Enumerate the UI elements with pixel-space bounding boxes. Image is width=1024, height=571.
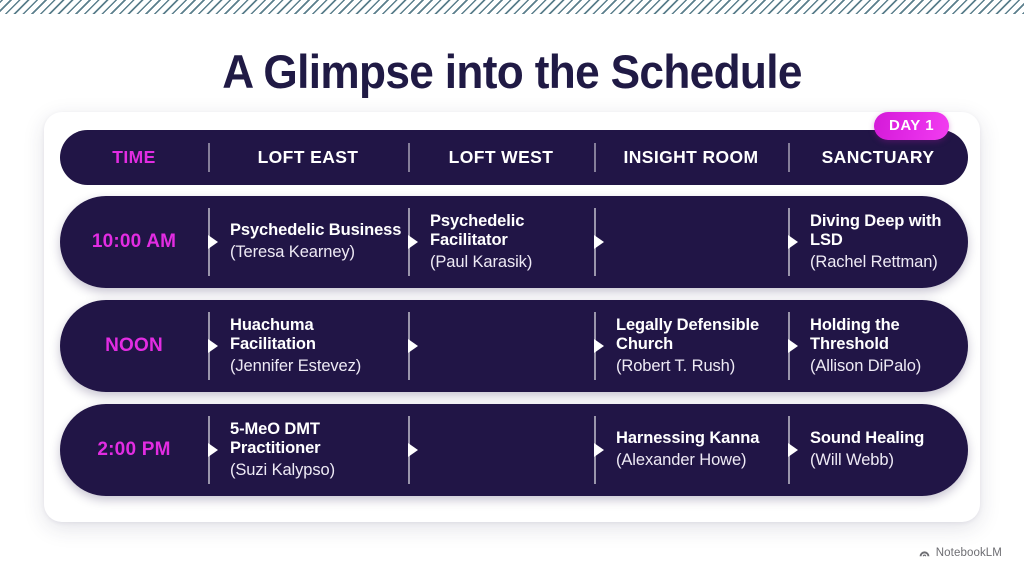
column-header-loft-east: LOFT EAST <box>208 130 408 185</box>
arrow-right-icon <box>788 235 798 249</box>
column-header-time: TIME <box>60 130 208 185</box>
session-cell-loft-east[interactable]: Huachuma Facilitation (Jennifer Estevez) <box>208 300 408 392</box>
schedule-header-row: TIME LOFT EAST LOFT WEST INSIGHT ROOM SA… <box>60 130 968 185</box>
arrow-right-icon <box>208 339 218 353</box>
column-header-insight-room: INSIGHT ROOM <box>594 130 788 185</box>
session-presenter: (Alexander Howe) <box>616 450 782 471</box>
session-title: Sound Healing <box>810 429 962 449</box>
session-cell-sanctuary[interactable]: Diving Deep with LSD (Rachel Rettman) <box>788 196 968 288</box>
row-time-cell: NOON <box>60 300 208 392</box>
session-presenter: (Jennifer Estevez) <box>230 356 402 377</box>
time-label: NOON <box>105 335 163 357</box>
column-header-loft-west: LOFT WEST <box>408 130 594 185</box>
session-presenter: (Teresa Kearney) <box>230 242 402 263</box>
session-title: Psychedelic Facilitator <box>430 212 588 251</box>
session-cell-insight-room[interactable]: Legally Defensible Church (Robert T. Rus… <box>594 300 788 392</box>
row-time-cell: 2:00 PM <box>60 404 208 496</box>
watermark-label: NotebookLM <box>936 547 1002 559</box>
time-label: 2:00 PM <box>97 439 170 461</box>
session-presenter: (Allison DiPalo) <box>810 356 962 377</box>
session-cell-loft-west[interactable]: Psychedelic Facilitator (Paul Karasik) <box>408 196 594 288</box>
session-cell-loft-west[interactable] <box>408 404 594 496</box>
schedule-table: TIME LOFT EAST LOFT WEST INSIGHT ROOM SA… <box>60 130 968 496</box>
time-label: 10:00 AM <box>92 231 176 253</box>
session-presenter: (Paul Karasik) <box>430 252 588 273</box>
session-cell-sanctuary[interactable]: Holding the Threshold (Allison DiPalo) <box>788 300 968 392</box>
arrow-right-icon <box>594 235 604 249</box>
page-title: A Glimpse into the Schedule <box>31 44 994 99</box>
session-title: Harnessing Kanna <box>616 429 782 449</box>
arrow-right-icon <box>408 235 418 249</box>
arrow-right-icon <box>594 339 604 353</box>
session-title: Diving Deep with LSD <box>810 212 962 251</box>
session-cell-loft-west[interactable] <box>408 300 594 392</box>
arrow-right-icon <box>208 443 218 457</box>
day-badge: DAY 1 <box>874 112 949 140</box>
session-cell-loft-east[interactable]: 5-MeO DMT Practitioner (Suzi Kalypso) <box>208 404 408 496</box>
arrow-right-icon <box>408 443 418 457</box>
session-cell-insight-room[interactable] <box>594 196 788 288</box>
notebooklm-watermark: NotebookLM <box>918 546 1002 559</box>
arrow-right-icon <box>788 339 798 353</box>
session-title: Holding the Threshold <box>810 316 962 355</box>
schedule-row: NOON Huachuma Facilitation (Jennifer Est… <box>60 300 968 392</box>
session-title: Huachuma Facilitation <box>230 316 402 355</box>
arrow-right-icon <box>408 339 418 353</box>
schedule-row: 10:00 AM Psychedelic Business (Teresa Ke… <box>60 196 968 288</box>
session-title: Legally Defensible Church <box>616 316 782 355</box>
session-title: 5-MeO DMT Practitioner <box>230 420 402 459</box>
arrow-right-icon <box>594 443 604 457</box>
session-presenter: (Rachel Rettman) <box>810 252 962 273</box>
notebooklm-spiral-icon <box>918 546 931 559</box>
session-cell-loft-east[interactable]: Psychedelic Business (Teresa Kearney) <box>208 196 408 288</box>
arrow-right-icon <box>788 443 798 457</box>
session-cell-sanctuary[interactable]: Sound Healing (Will Webb) <box>788 404 968 496</box>
session-presenter: (Robert T. Rush) <box>616 356 782 377</box>
schedule-row: 2:00 PM 5-MeO DMT Practitioner (Suzi Kal… <box>60 404 968 496</box>
arrow-right-icon <box>208 235 218 249</box>
row-time-cell: 10:00 AM <box>60 196 208 288</box>
session-presenter: (Suzi Kalypso) <box>230 460 402 481</box>
session-title: Psychedelic Business <box>230 221 402 241</box>
session-presenter: (Will Webb) <box>810 450 962 471</box>
top-stripe-decoration <box>0 0 1024 14</box>
session-cell-insight-room[interactable]: Harnessing Kanna (Alexander Howe) <box>594 404 788 496</box>
